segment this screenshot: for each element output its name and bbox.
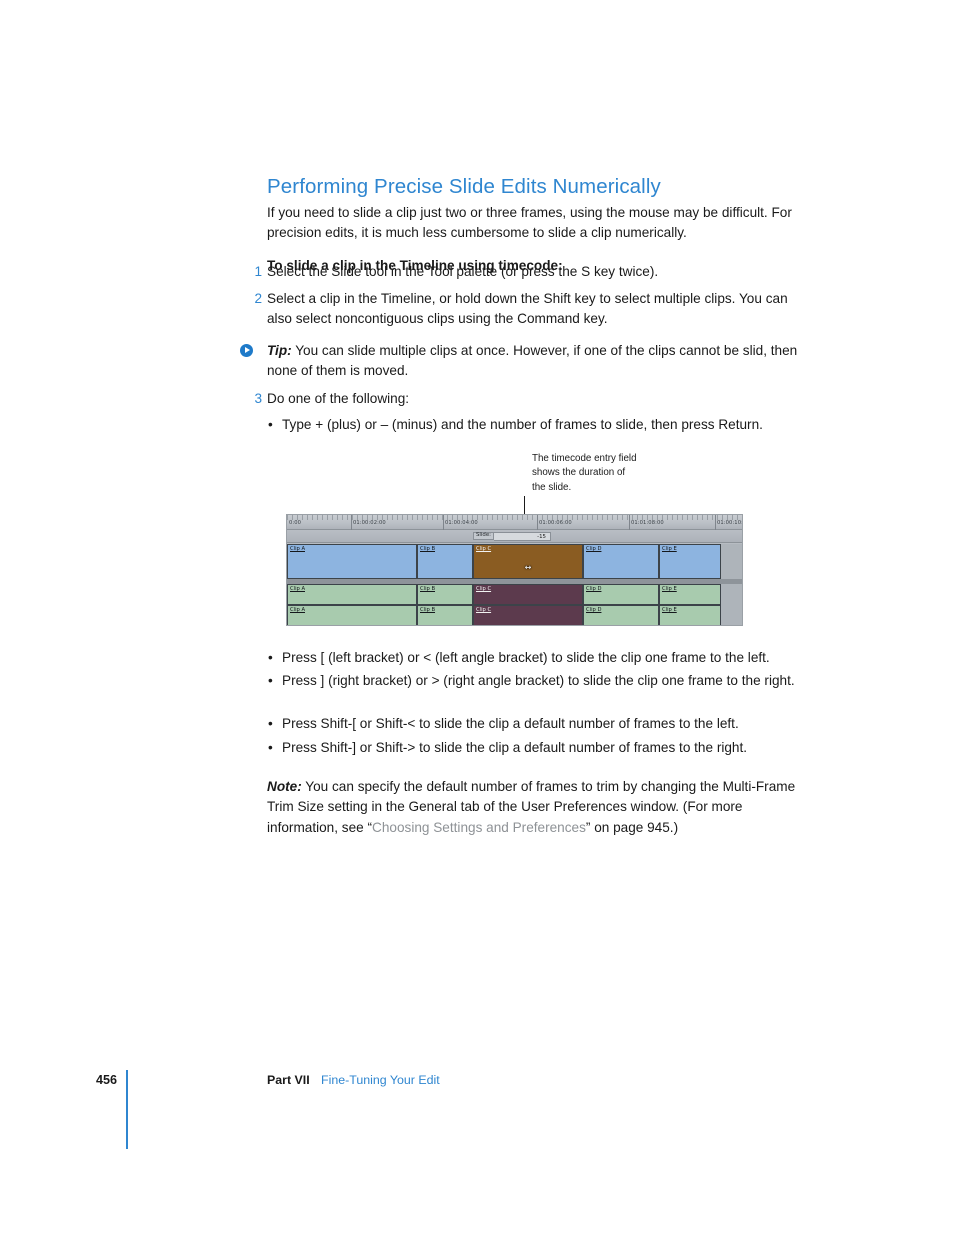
bullet-text: Press Shift-] or Shift-> to slide the cl… [282,738,814,758]
bullet-left-bracket: • Press [ (left bracket) or < (left angl… [268,648,814,668]
clip-name: Clip E [662,546,677,552]
tip-label: Tip: [267,343,292,358]
bullet-dot: • [268,738,273,758]
footer-part-label: Part VII [267,1073,310,1087]
clip-name: Clip B [420,546,435,552]
cross-reference-link[interactable]: Choosing Settings and Preferences [372,820,586,835]
timeline-clip[interactable]: Clip E [659,544,721,579]
clip-name: Clip E [662,607,677,613]
ruler-tickmark [351,515,352,530]
timeline-clip[interactable]: Clip D [583,544,659,579]
slide-field-value[interactable]: -15 [494,532,551,541]
slide-tool-cursor-icon: ↔ [522,563,535,572]
bullet-text: Type + (plus) or – (minus) and the numbe… [282,415,814,435]
step-3: 3 Do one of the following: [248,389,814,409]
step-text: Select a clip in the Timeline, or hold d… [267,289,814,329]
timeline-clip[interactable]: Clip B [417,544,473,579]
timeline-clip[interactable]: Clip A [287,584,417,605]
clip-name: Clip C [476,546,491,552]
timeline-clip-selected[interactable]: Clip C [473,584,583,605]
tip-callout: Tip: You can slide multiple clips at onc… [240,341,814,381]
page-number: 456 [96,1073,117,1087]
clip-name: Clip D [586,607,601,613]
timeline-clip-selected[interactable]: Clip C ↔ [473,544,583,579]
clip-name: Clip A [290,586,305,592]
bullet-dot: • [268,714,273,734]
step-1: 1 Select the Slide tool in the Tool pale… [248,262,814,282]
step-2: 2 Select a clip in the Timeline, or hold… [248,289,814,329]
audio-track-a2: ⋮⋮ Clip A ⋮⋮ Clip B ⋮⋮ Clip C ⋮⋮ Clip D … [287,605,742,626]
tip-text: You can slide multiple clips at once. Ho… [267,343,797,378]
ruler-timecode: 0:00 [289,520,301,526]
bullet-shift-left: • Press Shift-[ or Shift-< to slide the … [268,714,814,734]
step-number: 1 [248,262,262,282]
ruler-tickmark [715,515,716,530]
bullet-shift-right: • Press Shift-] or Shift-> to slide the … [268,738,814,758]
ruler-timecode: 01:00:06:00 [539,520,572,526]
ruler-tickmark [629,515,630,530]
bullet-text: Press ] (right bracket) or > (right angl… [282,671,798,691]
timeline-clip[interactable]: Clip E [659,584,721,605]
audio-track-a1: Clip A Clip B Clip C Clip D Clip E [287,584,742,605]
timeline-clip-selected[interactable]: ⋮⋮ Clip C [473,605,583,626]
timeline-ruler[interactable]: 0:00 01:00:02:00 01:00:04:00 01:00:06:00… [287,515,742,530]
step-number: 3 [248,389,262,409]
clip-name: Clip D [586,546,601,552]
clip-name: Clip C [476,586,491,592]
note-text-part-2: ” on page 945.) [586,820,678,835]
timeline-clip[interactable]: Clip D [583,584,659,605]
clip-name: Clip A [290,607,305,613]
timeline-subbar: Slide: -15 [287,530,742,543]
timeline-clip[interactable]: ⋮⋮ Clip E [659,605,721,626]
callout-line-3: the slide. [532,481,672,495]
page-title: Performing Precise Slide Edits Numerical… [267,175,661,199]
tip-arrow-icon [240,344,253,357]
step-number: 2 [248,289,262,309]
timeline-clip[interactable]: Clip A [287,544,417,579]
timeline-clip[interactable]: ⋮⋮ Clip A [287,605,417,626]
ruler-timecode: 01:01:08:00 [631,520,664,526]
slide-timecode-entry[interactable]: Slide: -15 [473,531,551,541]
clip-name: Clip B [420,607,435,613]
note-paragraph: Note: You can specify the default number… [267,777,814,839]
intro-paragraph: If you need to slide a clip just two or … [267,203,812,243]
ruler-timecode: 01:00:04:00 [445,520,478,526]
ruler-timecode: 01:00:02:00 [353,520,386,526]
audio-level-marks-icon: ⋮⋮ [420,605,431,606]
bullet-text: Press [ (left bracket) or < (left angle … [282,648,814,668]
audio-level-marks-icon: ⋮⋮ [586,605,597,606]
ruler-tickmark [443,515,444,530]
annotation-callout: The timecode entry field shows the durat… [532,452,672,495]
bullet-right-bracket: • Press ] (right bracket) or > (right an… [268,671,798,691]
clip-name: Clip E [662,586,677,592]
audio-level-marks-icon: ⋮⋮ [662,605,673,606]
timeline-clip[interactable]: ⋮⋮ Clip B [417,605,473,626]
bullet-dot: • [268,415,273,435]
timeline-screenshot: 0:00 01:00:02:00 01:00:04:00 01:00:06:00… [286,514,743,626]
footer-divider [126,1070,128,1149]
step-text: Do one of the following: [267,389,814,409]
slide-field-label: Slide: [473,532,494,540]
bullet-text: Press Shift-[ or Shift-< to slide the cl… [282,714,814,734]
clip-name: Clip C [476,607,491,613]
timeline-clip[interactable]: Clip B [417,584,473,605]
clip-name: Clip D [586,586,601,592]
note-label: Note: [267,779,302,794]
timeline-clip[interactable]: ⋮⋮ Clip D [583,605,659,626]
video-track-v1: Clip A Clip B Clip C ↔ Clip D Clip E [287,544,742,579]
bullet-type-plus-minus: • Type + (plus) or – (minus) and the num… [268,415,814,435]
audio-level-marks-icon: ⋮⋮ [290,605,301,606]
tip-body: Tip: You can slide multiple clips at onc… [267,341,814,381]
bullet-dot: • [268,671,273,691]
ruler-tickmark [537,515,538,530]
callout-line-1: The timecode entry field [532,452,672,466]
clip-name: Clip B [420,586,435,592]
clip-name: Clip A [290,546,305,552]
document-page: Performing Precise Slide Edits Numerical… [0,0,954,1235]
step-text: Select the Slide tool in the Tool palett… [267,262,814,282]
audio-level-marks-icon: ⋮⋮ [476,605,487,606]
bullet-dot: • [268,648,273,668]
footer-section-label: Fine-Tuning Your Edit [321,1073,440,1087]
callout-line-2: shows the duration of [532,466,672,480]
ruler-timecode: 01:00:10:00 [717,520,743,526]
